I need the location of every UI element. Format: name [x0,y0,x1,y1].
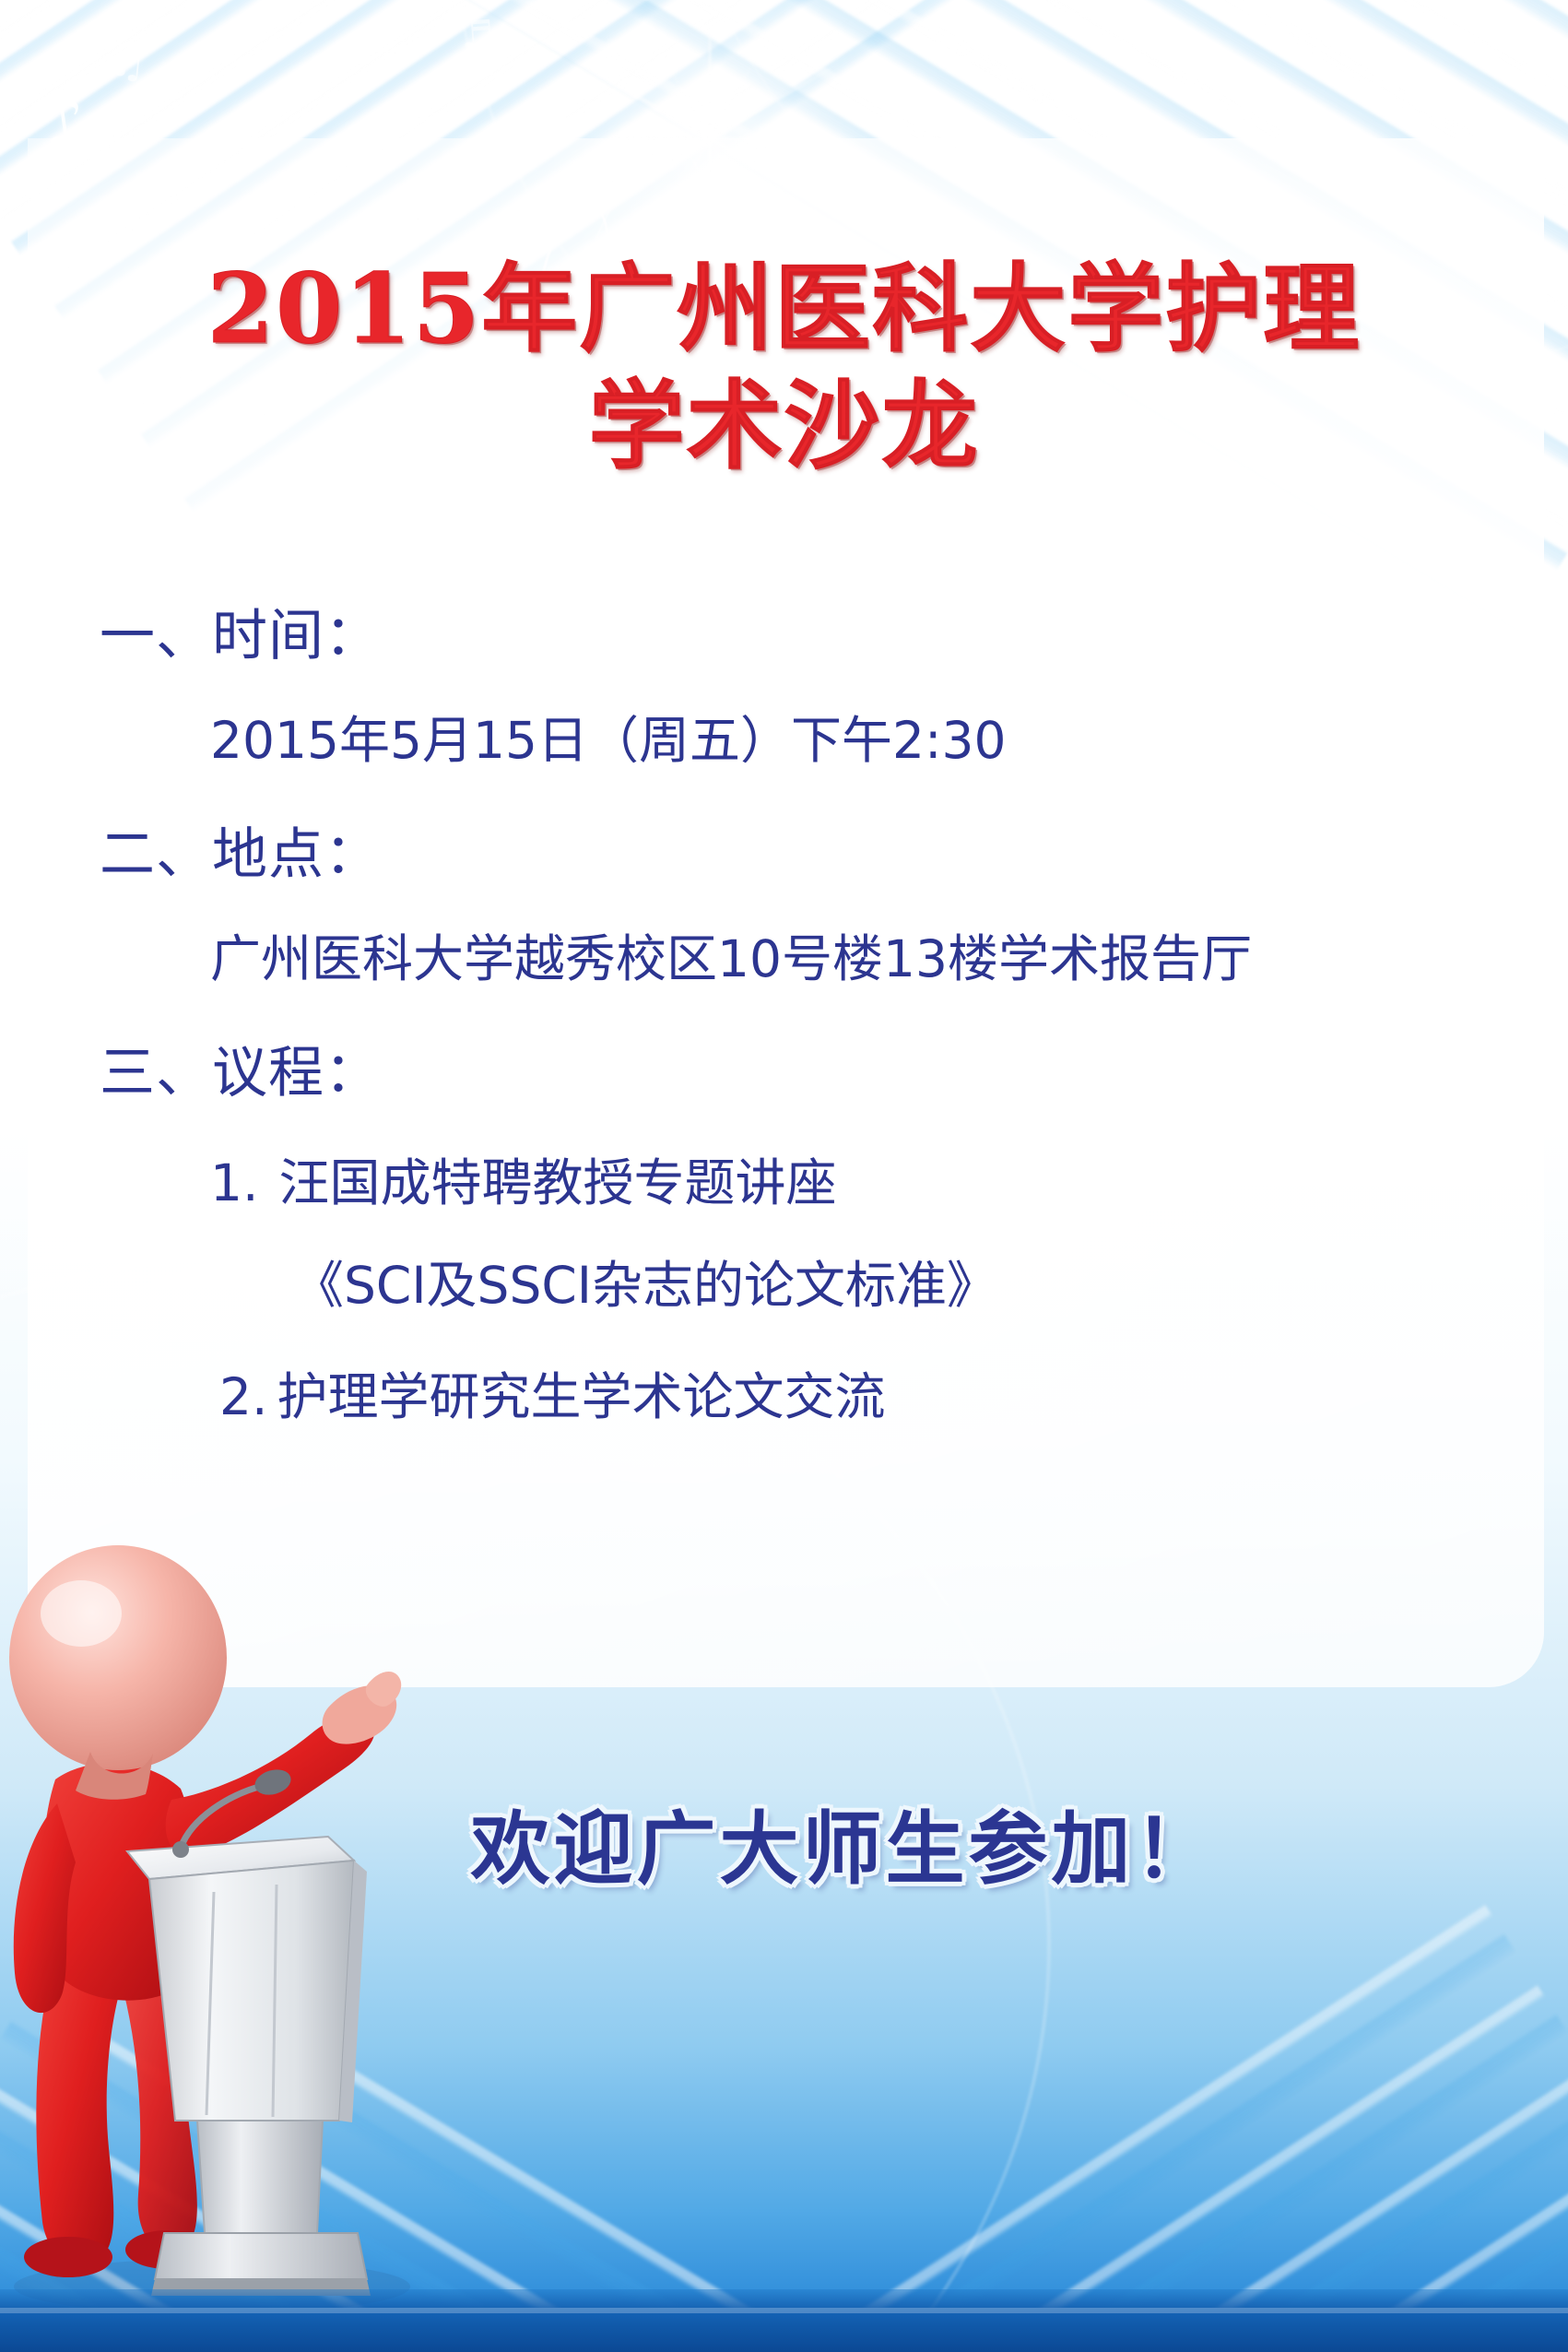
star-ray [708,0,712,290]
music-note-icon: ♩ [560,156,580,189]
star-ray [577,61,843,216]
title-line-1: 2015年广州医科大学护理 [0,251,1568,368]
figure-head [9,1545,227,1770]
music-note-icon: ♪ [38,86,90,160]
star-ray [665,62,755,216]
agenda-item-2-text: 护理学研究生学术论文交流 [277,1367,885,1426]
section-heading-agenda: 三、议程： [0,1046,1568,1101]
section-body-location: 广州医科大学越秀校区10号楼13楼学术报告厅 [0,934,1568,985]
section-heading-time: 一、时间： [0,609,1568,664]
podium-body [149,1861,354,2121]
light-streaks-bottom-left [0,1894,1273,2352]
welcome-message: 欢迎广大师生参加！ [0,1784,1568,1899]
figure-leg-left [36,1955,122,2264]
section-heading-location: 二、地点： [0,827,1568,882]
bottom-strip [0,2308,1568,2352]
agenda-item-1: 1.汪国成特聘教授专题讲座 [0,1158,1568,1209]
agenda-item-1-number: 1. [210,1153,258,1212]
star-ray [604,136,816,140]
light-streaks-bottom-right [395,1894,1568,2352]
poster-body: 一、时间： 2015年5月15日（周五）下午2:30 二、地点： 广州医科大学越… [0,609,1568,1423]
figure-hand [323,1685,397,1744]
music-note-icon: ♬ [460,16,496,54]
agenda-item-1-subtitle: 《SCI及SSCI杂志的论文标准》 [0,1260,1568,1311]
poster-canvas: ♪ ♫ ♬ ♩ 2015年广州医科大学护理 学术沙龙 一、时间： 2015年5月… [0,0,1568,2352]
figure-leg-right [122,1980,197,2252]
title-line-2: 学术沙龙 [0,368,1568,485]
poster-title: 2015年广州医科大学护理 学术沙龙 [0,251,1568,485]
star-ray [662,57,757,219]
podium-column [197,2121,323,2233]
bottom-accent-band [0,2289,1568,2308]
section-body-time: 2015年5月15日（周五）下午2:30 [0,715,1568,766]
agenda-item-2: 2.护理学研究生学术论文交流 [0,1372,1568,1423]
bottom-strip-highlight [0,2308,1568,2313]
agenda-item-1-text: 汪国成特聘教授专题讲座 [278,1153,836,1212]
agenda-item-2-number: 2. [219,1367,267,1426]
speaker-podium-illustration [0,1475,516,2323]
podium-base [155,2233,367,2279]
welcome-message-text: 欢迎广大师生参加！ [471,1802,1218,1896]
music-note-icon: ♫ [107,39,149,85]
star-ray [577,61,843,216]
